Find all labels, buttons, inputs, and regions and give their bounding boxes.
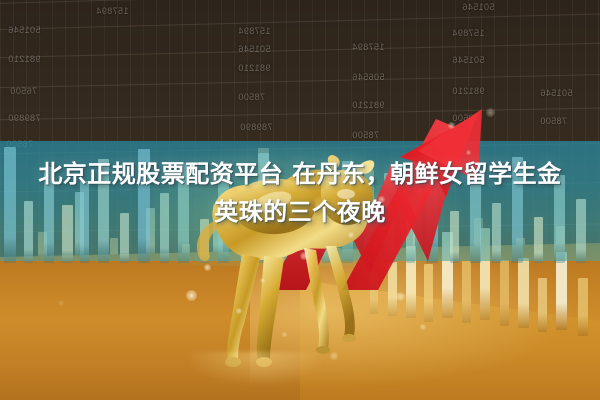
stock-banner-image: 1578945015465015461578949812105015461578…: [0, 0, 600, 400]
headline-line-1: 北京正规股票配资平台 在丹东，朝鲜女留学生金: [0, 155, 600, 193]
bokeh-dot: [330, 352, 338, 360]
bokeh-dot: [348, 232, 354, 238]
bokeh-dot: [58, 300, 64, 306]
headline-line-2: 英珠的三个夜晚: [0, 193, 600, 231]
headline-block: 北京正规股票配资平台 在丹东，朝鲜女留学生金 英珠的三个夜晚: [0, 155, 600, 231]
bokeh-dot: [204, 264, 211, 271]
bokeh-dot: [396, 292, 405, 301]
bokeh-dot: [282, 332, 287, 337]
bokeh-dot: [260, 278, 265, 283]
bokeh-dot: [486, 108, 495, 117]
bokeh-dot: [186, 290, 197, 301]
bokeh-dot: [420, 324, 426, 330]
bokeh-dot: [448, 122, 455, 129]
bokeh-dot: [300, 252, 308, 260]
bokeh-dot: [236, 308, 242, 314]
